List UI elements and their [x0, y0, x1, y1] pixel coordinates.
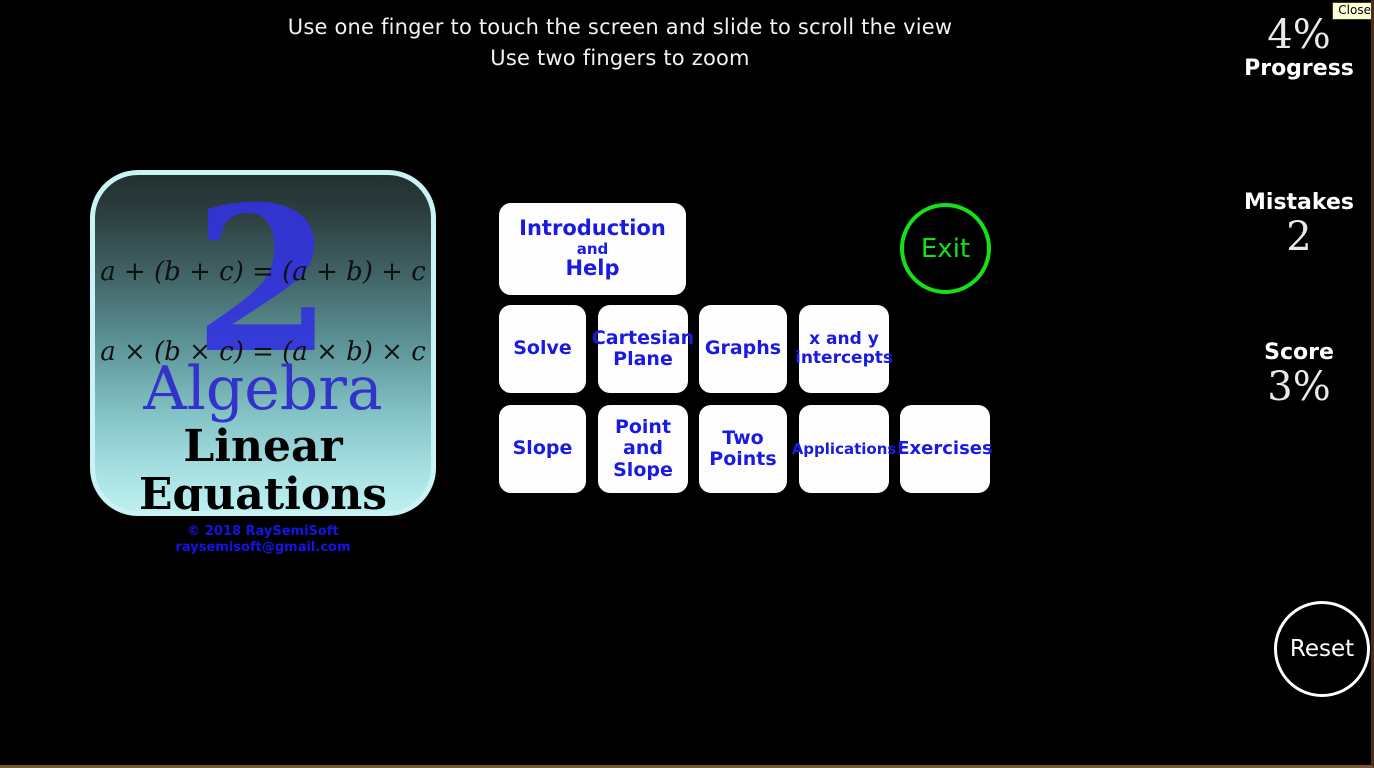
menu-button-slope[interactable]: Slope [499, 405, 586, 493]
menu-button-introduction-and-help[interactable]: Introduction and Help [499, 203, 686, 295]
btn-intro-line-2: and [577, 241, 609, 258]
btn-exercises-label: Exercises [897, 439, 992, 459]
copyright-block: © 2018 RaySemiSoft raysemisoft@gmail.com [90, 524, 436, 556]
logo-title: Linear Equations [95, 423, 431, 516]
reset-button-label: Reset [1290, 636, 1354, 662]
btn-pointslope-line-1: Point [615, 417, 671, 438]
menu-button-graphs[interactable]: Graphs [699, 305, 787, 393]
btn-cartesian-line-1: Cartesian [592, 328, 694, 349]
instructions-text: Use one finger to touch the screen and s… [0, 12, 1240, 74]
btn-graphs-label: Graphs [705, 338, 781, 359]
btn-apps-label: Applications [792, 441, 897, 458]
menu-button-cartesian-plane[interactable]: Cartesian Plane [598, 305, 688, 393]
btn-cartesian-line-2: Plane [613, 349, 673, 370]
logo-title-line-2: Equations [139, 469, 387, 516]
btn-intro-line-3: Help [565, 257, 619, 281]
btn-twopoints-line-1: Two [722, 428, 763, 449]
score-value: 3% [1219, 366, 1374, 408]
btn-intro-line-1: Introduction [519, 217, 666, 241]
instruction-line-1: Use one finger to touch the screen and s… [0, 12, 1240, 43]
progress-stat: 4% Progress [1219, 14, 1374, 82]
app-screen: Use one finger to touch the screen and s… [0, 0, 1374, 768]
copyright-text: © 2018 RaySemiSoft [90, 524, 436, 540]
progress-label: Progress [1219, 56, 1374, 82]
exit-button[interactable]: Exit [900, 203, 991, 294]
logo-subject: Algebra [95, 357, 431, 421]
menu-button-solve[interactable]: Solve [499, 305, 586, 393]
logo-equation-associative-addition: a + (b + c) = (a + b) + c [95, 257, 431, 287]
menu-button-exercises[interactable]: Exercises [900, 405, 990, 493]
exit-button-label: Exit [921, 234, 970, 264]
btn-pointslope-line-2: and [623, 438, 663, 459]
btn-intercepts-line-1: x and y [809, 330, 879, 349]
menu-button-two-points[interactable]: Two Points [699, 405, 787, 493]
btn-intercepts-line-2: intercepts [795, 349, 893, 368]
logo-title-line-1: Linear [183, 421, 342, 472]
menu-button-applications[interactable]: Applications [799, 405, 889, 493]
score-stat: Score 3% [1219, 340, 1374, 408]
contact-email: raysemisoft@gmail.com [90, 540, 436, 556]
mistakes-value: 2 [1219, 216, 1374, 258]
menu-button-point-and-slope[interactable]: Point and Slope [598, 405, 688, 493]
menu-button-x-and-y-intercepts[interactable]: x and y intercepts [799, 305, 889, 393]
mistakes-label: Mistakes [1219, 190, 1374, 216]
score-label: Score [1219, 340, 1374, 366]
instruction-line-2: Use two fingers to zoom [0, 43, 1240, 74]
progress-value: 4% [1219, 14, 1374, 56]
btn-pointslope-line-3: Slope [613, 460, 673, 481]
mistakes-stat: Mistakes 2 [1219, 190, 1374, 258]
btn-solve-label: Solve [513, 338, 572, 359]
app-logo-card: 2 a + (b + c) = (a + b) + c a × (b × c) … [90, 170, 436, 516]
btn-twopoints-line-2: Points [709, 449, 776, 470]
btn-slope-label: Slope [513, 438, 573, 459]
reset-button[interactable]: Reset [1274, 601, 1370, 697]
